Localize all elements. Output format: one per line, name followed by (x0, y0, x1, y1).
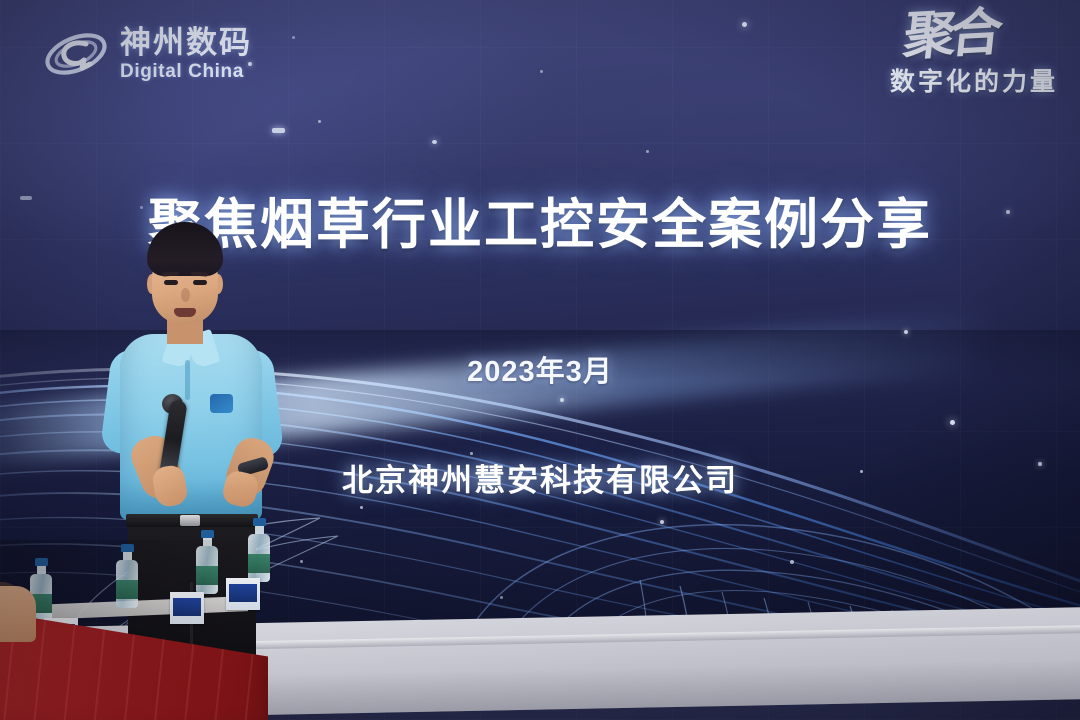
star-particle (360, 506, 363, 509)
bottle-cap (201, 530, 214, 538)
event-calligraphy: 聚合 (901, 10, 999, 63)
event-logo: 聚合 数字化的力量 (798, 12, 1058, 116)
star-particle (742, 22, 747, 27)
foreground-table (0, 580, 268, 720)
speaker-nose (181, 288, 190, 302)
star-particle (272, 128, 285, 133)
water-bottle (116, 544, 138, 608)
speaker-eye-right (193, 280, 207, 285)
star-particle (540, 70, 543, 73)
bottle-neck (37, 566, 46, 574)
conference-stage-photo: 神州数码 Digital China 聚合 数字化的力量 聚焦烟草行业工控安全案… (0, 0, 1080, 720)
speaker-shirt-logo (210, 394, 233, 413)
bottle-label (248, 554, 270, 573)
star-particle (904, 330, 908, 334)
star-particle (432, 140, 437, 144)
name-card-strip (173, 598, 201, 616)
speaker-belt-buckle (180, 515, 200, 526)
bottle-label (116, 580, 138, 599)
star-particle (950, 420, 955, 425)
digital-china-swirl-icon (42, 24, 110, 84)
star-particle (500, 596, 503, 599)
brand-name-cn: 神州数码 (120, 27, 252, 58)
star-particle (560, 398, 564, 402)
speaker-shirt-placket (185, 360, 190, 400)
star-particle (292, 36, 295, 39)
bottle-cap (253, 518, 266, 526)
water-bottle (248, 518, 270, 582)
water-bottle (196, 530, 218, 594)
star-particle (660, 520, 664, 524)
name-card (170, 592, 204, 624)
digital-china-logo: 神州数码 Digital China (42, 16, 272, 92)
brand-name-en: Digital China (120, 62, 252, 81)
seated-attendee (0, 586, 36, 642)
bottle-label (196, 566, 218, 585)
bottle-cap (35, 558, 48, 566)
bottle-neck (203, 538, 212, 546)
bottle-neck (123, 552, 132, 560)
star-particle (790, 560, 794, 564)
star-particle (646, 150, 649, 153)
star-particle (318, 120, 321, 123)
event-tagline: 数字化的力量 (798, 62, 1058, 98)
speaker-hair (147, 222, 223, 276)
speaker-eye-left (164, 280, 178, 285)
speaker-mouth (174, 308, 196, 317)
bottle-neck (255, 526, 264, 534)
name-card-strip (229, 584, 257, 602)
star-particle (300, 560, 303, 563)
bottle-cap (121, 544, 134, 552)
name-card (226, 578, 260, 610)
